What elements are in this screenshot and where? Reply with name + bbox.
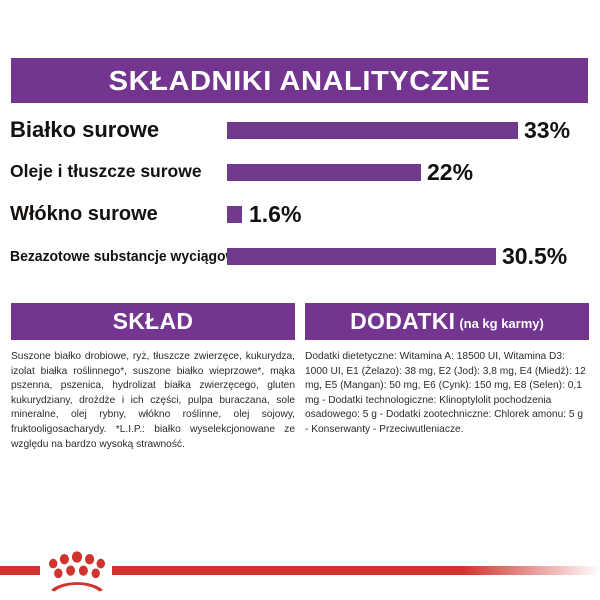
chart-row-bar — [227, 164, 421, 181]
royal-canin-crown-icon — [44, 548, 110, 592]
chart-row-label: Bezazotowe substancje wyciągowe — [10, 239, 205, 273]
chart-row-label: Włókno surowe — [10, 197, 220, 231]
composition-header-title: SKŁAD — [113, 310, 194, 333]
additives-header-title: DODATKI — [350, 310, 455, 333]
chart-row: Oleje i tłuszcze surowe 22% — [0, 155, 600, 189]
additives-header-bar: DODATKI (na kg karmy) — [305, 303, 589, 340]
chart-row-value: 33% — [524, 113, 570, 147]
additives-header-subtitle: (na kg karmy) — [459, 317, 544, 330]
brand-footer — [0, 548, 600, 594]
chart-row-label: Oleje i tłuszcze surowe — [10, 155, 220, 189]
composition-body-text: Suszone białko drobiowe, ryż, tłuszcze z… — [11, 350, 295, 452]
chart-row-bar — [227, 248, 496, 265]
composition-header-bar: SKŁAD — [11, 303, 295, 340]
chart-row-value: 22% — [427, 155, 473, 189]
brand-rule-left — [0, 566, 40, 575]
additives-body-text: Dodatki dietetyczne: Witamina A: 18500 U… — [305, 350, 589, 438]
chart-row-bar — [227, 122, 518, 139]
chart-row: Włókno surowe 1.6% — [0, 197, 600, 231]
chart-row: Bezazotowe substancje wyciągowe 30.5% — [0, 239, 600, 273]
analysis-header-title: SKŁADNIKI ANALITYCZNE — [109, 67, 491, 95]
analytical-constituents-chart: Białko surowe 33% Oleje i tłuszcze surow… — [0, 113, 600, 273]
brand-rule-right — [112, 566, 600, 575]
nutrition-label-page: SKŁADNIKI ANALITYCZNE Białko surowe 33% … — [0, 0, 600, 600]
chart-row-bar — [227, 206, 242, 223]
chart-row-value: 30.5% — [502, 239, 567, 273]
chart-row-label: Białko surowe — [10, 113, 220, 147]
chart-row-value: 1.6% — [249, 197, 301, 231]
chart-row: Białko surowe 33% — [0, 113, 600, 147]
analysis-header-bar: SKŁADNIKI ANALITYCZNE — [11, 58, 588, 103]
